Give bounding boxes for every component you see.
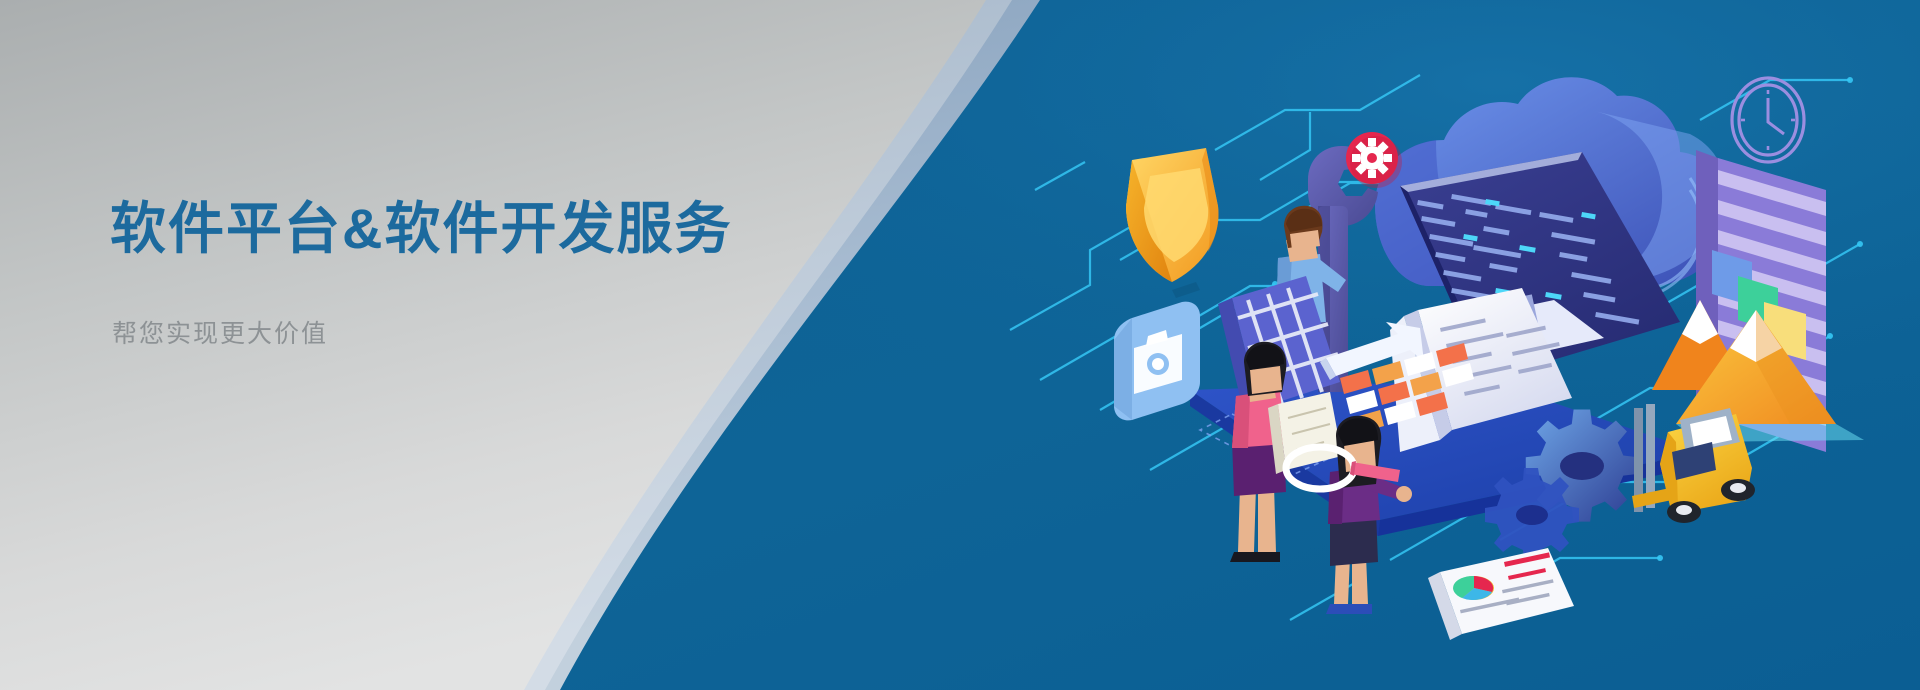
hero-text-block: 软件平台&软件开发服务 帮您实现更大价值: [110, 196, 870, 350]
hero-banner: 软件平台&软件开发服务 帮您实现更大价值: [0, 0, 1920, 690]
page-subtitle: 帮您实现更大价值: [112, 314, 870, 350]
page-title: 软件平台&软件开发服务: [110, 196, 870, 262]
